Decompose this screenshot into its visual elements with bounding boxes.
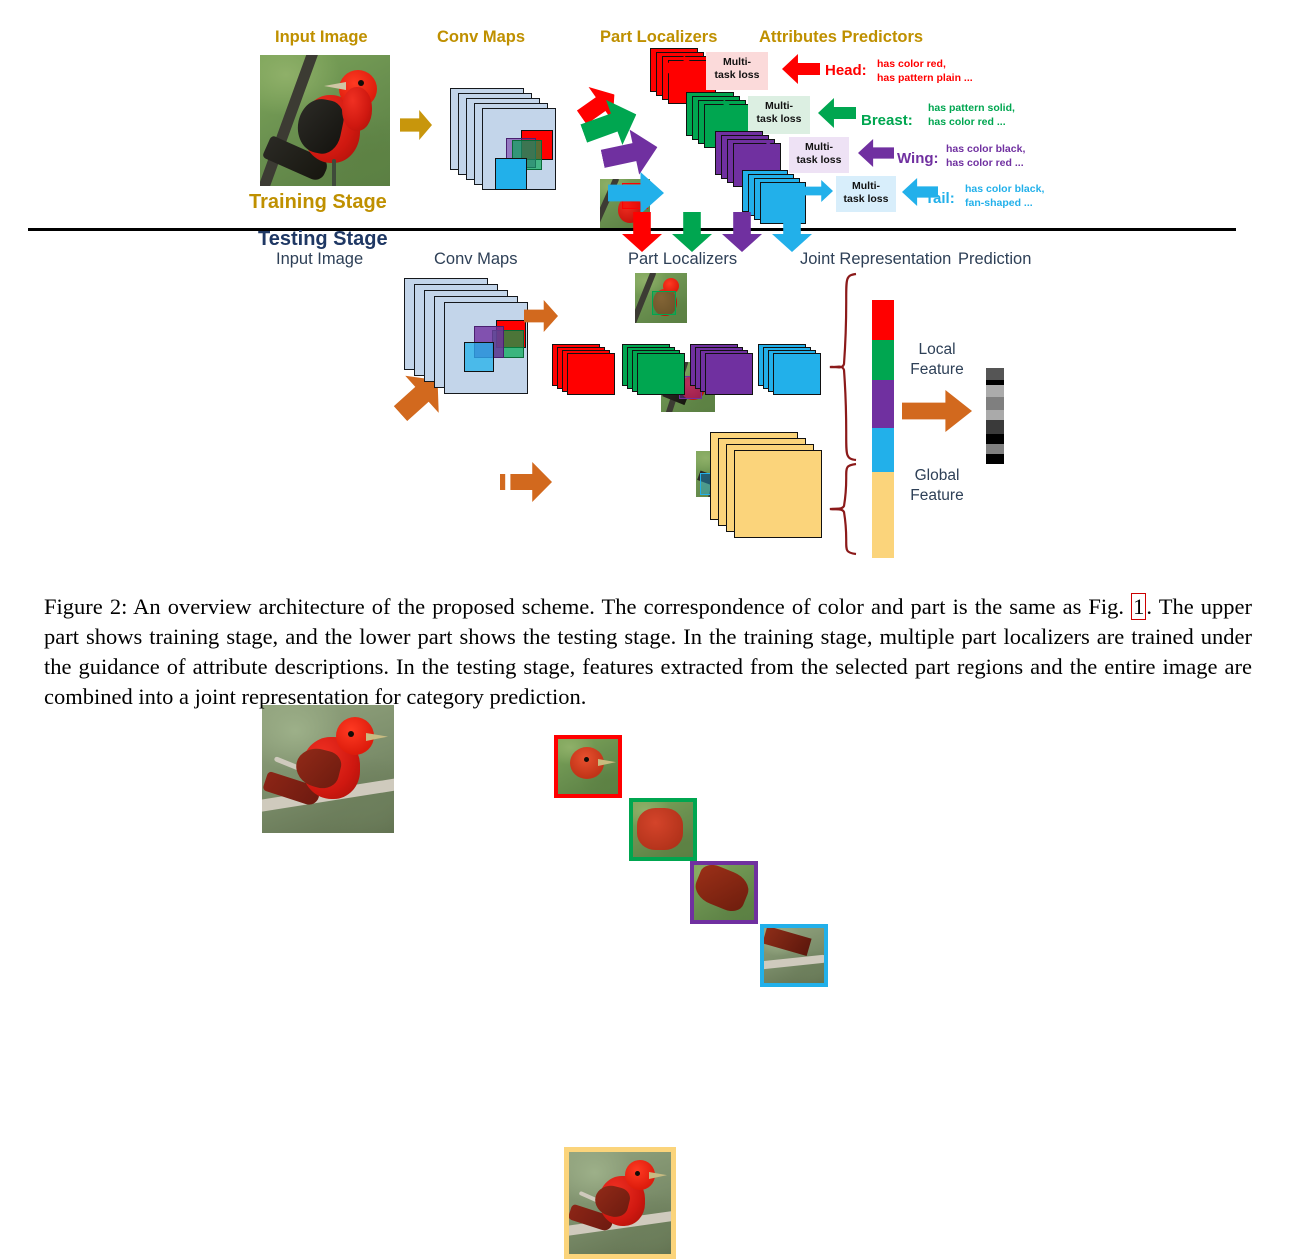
joint-segment-breast [872,340,894,380]
part-label-head: Head: [825,62,867,79]
training-input-bird-image [260,55,390,186]
part-attributes-head: has color red, has pattern plain ... [877,57,973,85]
testing-stage-label: Testing Stage [258,228,388,251]
header-testing-part-localizers: Part Localizers [628,250,737,269]
part-crop-breast [629,798,697,861]
joint-segment-tail [872,428,894,472]
global-feature-stack [710,432,830,547]
pred-seg-2 [986,385,1004,397]
joint-segment-head [872,300,894,340]
part-label-wing: Wing: [897,150,939,167]
brace-local-features [826,272,862,462]
part-crop-head [554,735,622,798]
part-attributes-wing: has color black, has color red ... [946,142,1025,170]
pred-seg-8 [986,454,1004,464]
part-attributes-tail: has color black, fan-shaped ... [965,182,1044,210]
prediction-code-bar [986,368,1004,464]
training-stage-label: Training Stage [249,191,387,214]
testing-feature-stack-head [552,344,624,400]
pred-seg-6 [986,434,1004,444]
global-feature-label: Global Feature [897,466,977,506]
pred-seg-5 [986,420,1004,434]
pred-seg-3 [986,397,1004,410]
training-attr-arrow-head [782,54,820,84]
global-input-image [564,1147,676,1259]
joint-segment-global [872,472,894,558]
pred-seg-7 [986,444,1004,454]
loss-box-tail: Multi- task loss [836,176,896,212]
stage-transfer-arrow-breast [672,212,712,252]
header-training-conv-maps: Conv Maps [437,28,525,47]
header-joint-representation: Joint Representation [800,250,951,269]
testing-conv-region-tail [464,342,494,372]
loss-box-wing: Multi- task loss [789,137,849,173]
caption-prefix: Figure 2: An overview architecture of th… [44,594,1131,619]
training-feature-stack-tail [742,170,812,228]
pred-seg-0 [986,368,1004,380]
header-testing-conv-maps: Conv Maps [434,250,517,269]
joint-segment-wing [872,380,894,428]
part-attributes-breast: has pattern solid, has color red ... [928,101,1015,129]
header-training-input-image: Input Image [275,28,368,47]
testing-feature-stack-wing [690,344,762,400]
brace-global-feature [826,462,862,556]
testing-feature-stack-tail [758,344,830,400]
figure-reference-link[interactable]: 1 [1131,593,1146,620]
testing-conv-map-stack [404,278,534,403]
header-attributes-predictors: Attributes Predictors [759,28,923,47]
testing-feature-stack-breast [622,344,694,400]
header-training-part-localizers: Part Localizers [600,28,717,47]
testing-input-bird-image [262,705,394,833]
joint-representation-bar [872,300,894,558]
local-feature-label: Local Feature [897,340,977,380]
testing-flow-arrow-global [500,462,552,502]
header-testing-input-image: Input Image [276,250,363,269]
training-flow-arrow-1 [400,110,432,140]
training-attr-arrow-wing [858,139,894,167]
training-conv-map-stack [450,88,555,208]
stage-divider [28,228,1236,231]
part-label-tail: Tail: [925,190,955,207]
part-crop-tail [760,924,828,987]
pred-seg-4 [986,410,1004,420]
loss-box-breast: Multi- task loss [748,96,810,134]
part-label-breast: Breast: [861,112,913,129]
figure-caption: Figure 2: An overview architecture of th… [44,592,1252,712]
loss-box-head: Multi- task loss [706,52,768,90]
training-part-thumb-breast [635,273,687,323]
figure-panel: Input Image Conv Maps Part Localizers At… [0,0,1291,580]
conv-region-tail [495,158,527,190]
training-attr-arrow-breast [818,98,856,128]
part-crop-wing [690,861,758,924]
header-prediction: Prediction [958,250,1031,269]
prediction-arrow [902,390,972,432]
